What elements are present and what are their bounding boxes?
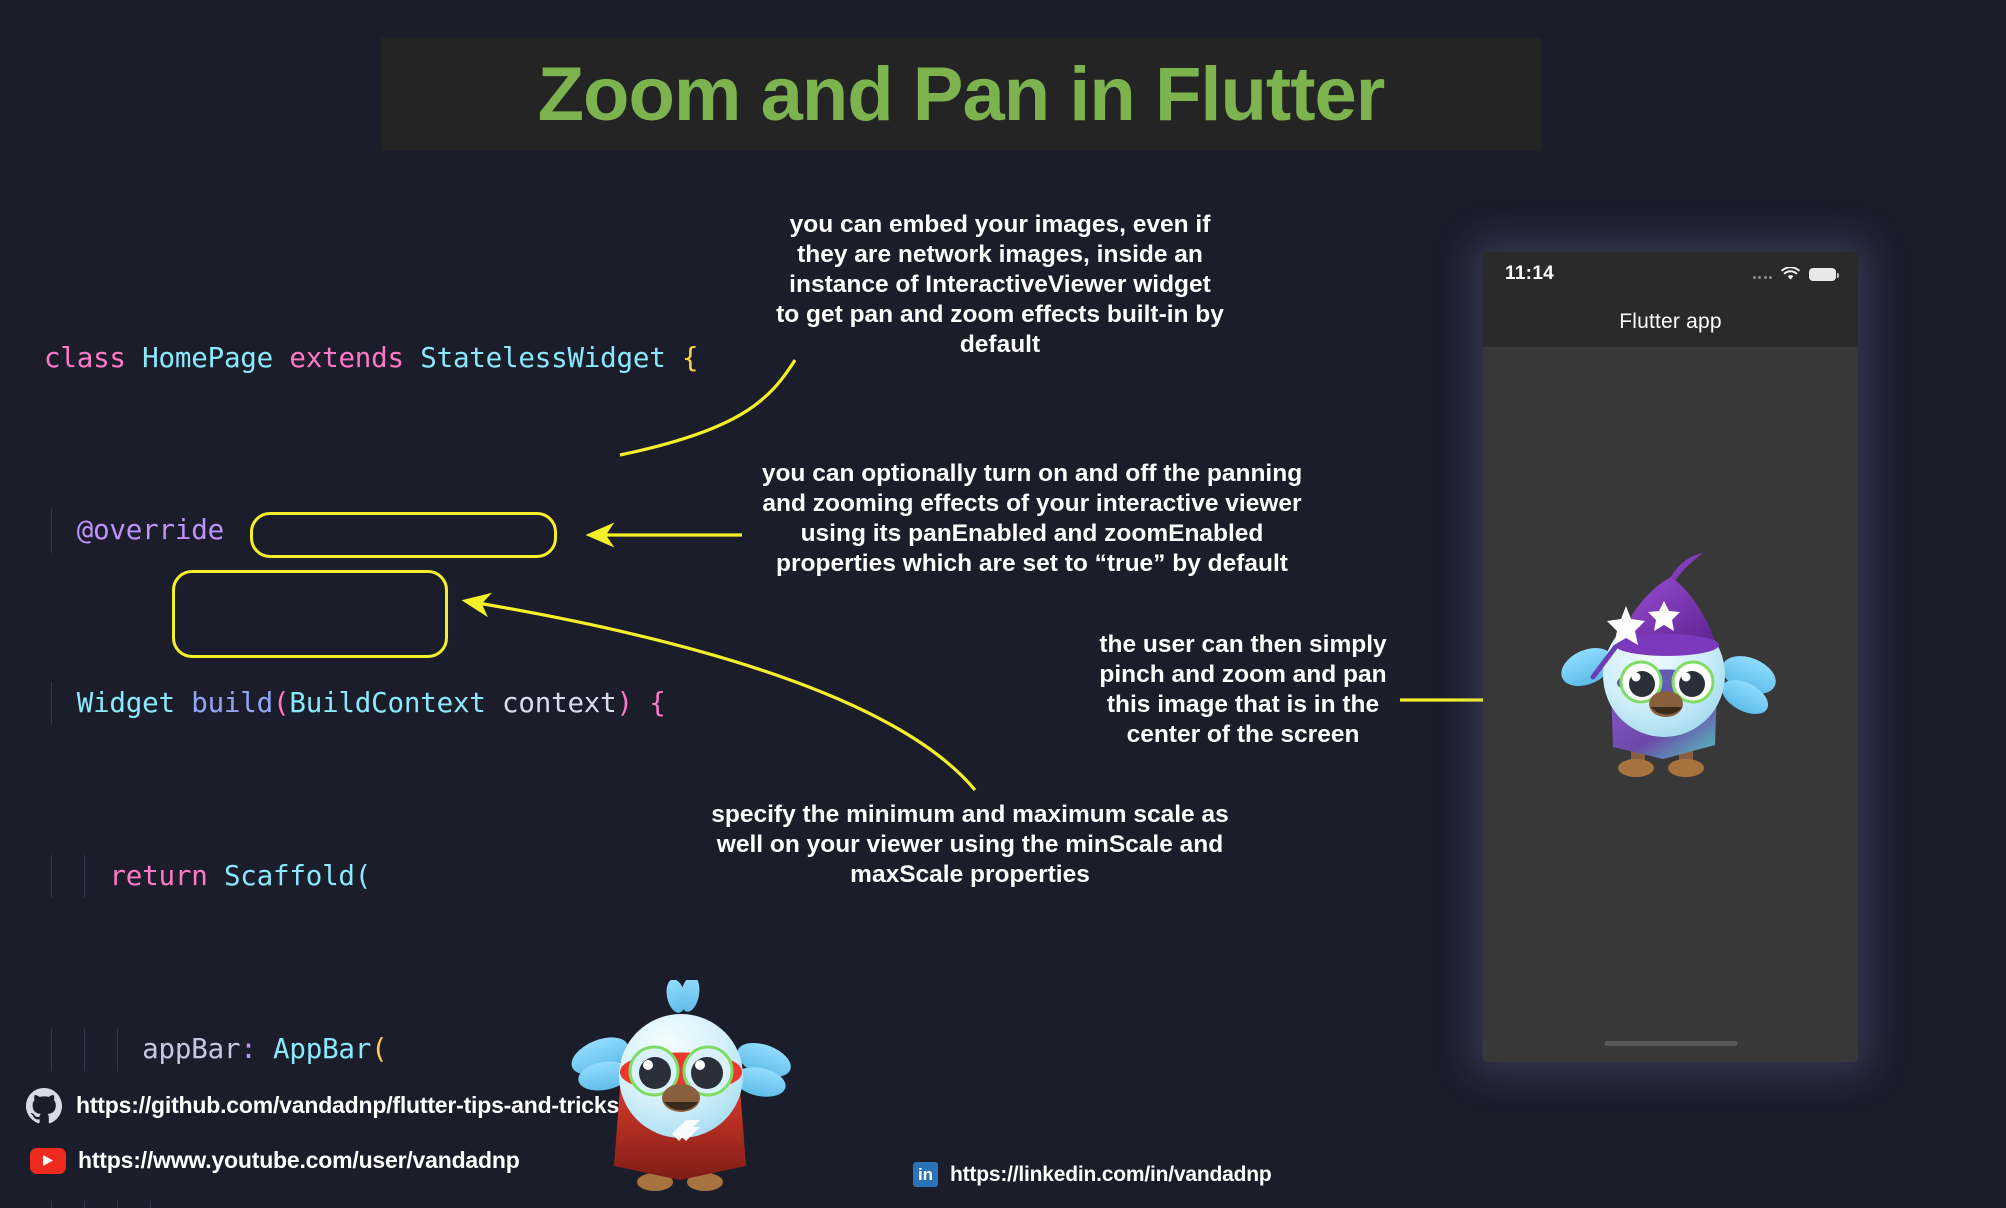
token-override-annotation: @override	[77, 514, 224, 546]
battery-full-icon	[1809, 268, 1836, 281]
youtube-url-text: https://www.youtube.com/user/vandadnp	[78, 1147, 520, 1174]
page-title: Zoom and Pan in Flutter	[538, 51, 1385, 138]
token-return-keyword: return	[109, 860, 207, 892]
phone-status-bar: 11:14	[1483, 252, 1858, 296]
token-superclass: StatelessWidget	[420, 342, 665, 374]
token-buildcontext: BuildContext	[289, 687, 485, 719]
token-appbar-type: AppBar	[273, 1033, 371, 1065]
code-line: Widget build(BuildContext context) {	[44, 682, 698, 725]
github-icon	[24, 1085, 64, 1125]
code-line: return Scaffold(	[44, 855, 698, 898]
code-line: @override	[44, 509, 698, 552]
linkedin-icon: in	[913, 1162, 938, 1187]
annotation-pinch-zoom-pan: the user can then simply pinch and zoom …	[1093, 630, 1393, 750]
dash-wizard-mascot[interactable]	[1553, 547, 1783, 797]
token-widget-type: Widget	[77, 687, 175, 719]
token-build-function: build	[191, 687, 273, 719]
footer-linkedin-link[interactable]: in https://linkedin.com/in/vandadnp	[913, 1162, 1271, 1187]
token-brace-open: {	[682, 342, 698, 374]
token-context-param: context	[502, 687, 617, 719]
annotation-pan-zoom-enabled: you can optionally turn on and off the p…	[752, 459, 1312, 579]
annotation-min-max-scale: specify the minimum and maximum scale as…	[700, 800, 1240, 890]
status-bar-indicators	[1753, 267, 1837, 281]
app-bar-title: Flutter app	[1619, 310, 1722, 334]
linkedin-url-text: https://linkedin.com/in/vandadnp	[950, 1163, 1271, 1187]
token-class-keyword: class	[44, 342, 126, 374]
phone-mockup: 11:14 Flutter app	[1483, 252, 1858, 1062]
token-class-name: HomePage	[142, 342, 273, 374]
title-banner: Zoom and Pan in Flutter	[381, 38, 1541, 151]
youtube-icon	[30, 1148, 66, 1174]
annotation-embed-images: you can embed your images, even if they …	[775, 210, 1225, 360]
github-url-text: https://github.com/vandadnp/flutter-tips…	[76, 1092, 619, 1119]
footer-github-link[interactable]: https://github.com/vandadnp/flutter-tips…	[24, 1085, 619, 1125]
token-extends-keyword: extends	[289, 342, 404, 374]
token-appbar-prop: appBar	[142, 1033, 240, 1065]
phone-screen-body[interactable]	[1483, 347, 1858, 1062]
wifi-icon	[1781, 267, 1800, 281]
signal-dots-icon	[1753, 270, 1773, 279]
phone-app-bar: Flutter app	[1483, 296, 1858, 347]
footer-youtube-link[interactable]: https://www.youtube.com/user/vandadnp	[30, 1147, 520, 1174]
code-line: class HomePage extends StatelessWidget {	[44, 337, 698, 380]
slide-root: Zoom and Pan in Flutter class HomePage e…	[0, 0, 2006, 1208]
status-bar-time: 11:14	[1505, 263, 1554, 285]
token-scaffold: Scaffold	[224, 860, 355, 892]
home-indicator	[1604, 1041, 1737, 1046]
